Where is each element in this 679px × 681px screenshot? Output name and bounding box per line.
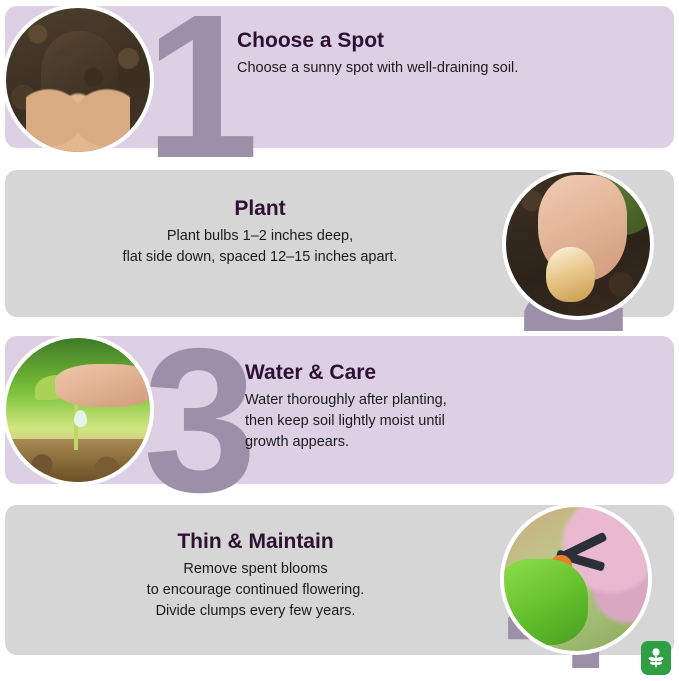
step-card-2: 2 Plant Plant bulbs 1–2 inches deep, fla…: [5, 170, 674, 317]
bulb-shape: [546, 247, 595, 302]
infographic-board: 1 Choose a Spot Choose a sunny spot with…: [0, 0, 679, 681]
step-3-desc-line-2: then keep soil lightly moist until: [245, 411, 645, 432]
step-card-1: 1 Choose a Spot Choose a sunny spot with…: [5, 6, 674, 148]
step-3-desc-line-3: growth appears.: [245, 432, 645, 453]
finger-shape: [55, 364, 150, 407]
pruning-shears-gloves-photo: [504, 507, 648, 651]
step-title-3: Water & Care: [245, 360, 645, 385]
step-numeral-3: 3: [143, 318, 253, 523]
brand-logo: [641, 641, 671, 675]
step-3-desc-line-1: Water thoroughly after planting,: [245, 390, 645, 411]
step-title-1: Choose a Spot: [237, 28, 657, 53]
step-card-4: 4 Thin & Maintain Remove spent blooms to…: [5, 505, 674, 655]
hands-shape: [26, 48, 130, 152]
pruning-scene: [504, 507, 648, 651]
soil-ground: [6, 439, 150, 482]
step-description-4: Remove spent blooms to encourage continu…: [23, 559, 488, 622]
step-description-1: Choose a sunny spot with well-draining s…: [237, 58, 657, 79]
step-photo-2: [502, 168, 654, 320]
step-photo-4: [500, 503, 652, 655]
step-4-desc-line-2: to encourage continued flowering.: [23, 580, 488, 601]
soil-texture: [6, 8, 150, 152]
watering-seedling-photo: [6, 338, 150, 482]
planting-soil-texture: [506, 172, 650, 316]
step-text-1: Choose a Spot Choose a sunny spot with w…: [237, 28, 657, 79]
hands-holding-soil-photo: [6, 8, 150, 152]
hand-planting-bulb-photo: [506, 172, 650, 316]
step-photo-1: [2, 4, 154, 156]
plant-leaf-logo-icon: [646, 646, 666, 670]
step-2-desc-line-1: Plant bulbs 1–2 inches deep,: [25, 226, 495, 247]
green-glove: [504, 559, 588, 645]
step-description-2: Plant bulbs 1–2 inches deep, flat side d…: [25, 226, 495, 268]
step-text-3: Water & Care Water thoroughly after plan…: [245, 360, 645, 453]
step-title-2: Plant: [25, 196, 495, 221]
step-description-3: Water thoroughly after planting, then ke…: [245, 390, 645, 453]
step-1-desc-line-1: Choose a sunny spot with well-draining s…: [237, 58, 657, 79]
step-text-2: Plant Plant bulbs 1–2 inches deep, flat …: [25, 196, 495, 268]
step-2-desc-line-2: flat side down, spaced 12–15 inches apar…: [25, 247, 495, 268]
seedling-scene: [6, 338, 150, 482]
step-4-desc-line-1: Remove spent blooms: [23, 559, 488, 580]
step-photo-3: [2, 334, 154, 486]
step-text-4: Thin & Maintain Remove spent blooms to e…: [23, 529, 488, 622]
step-title-4: Thin & Maintain: [23, 529, 488, 554]
step-4-desc-line-3: Divide clumps every few years.: [23, 601, 488, 622]
water-drop: [74, 410, 87, 427]
